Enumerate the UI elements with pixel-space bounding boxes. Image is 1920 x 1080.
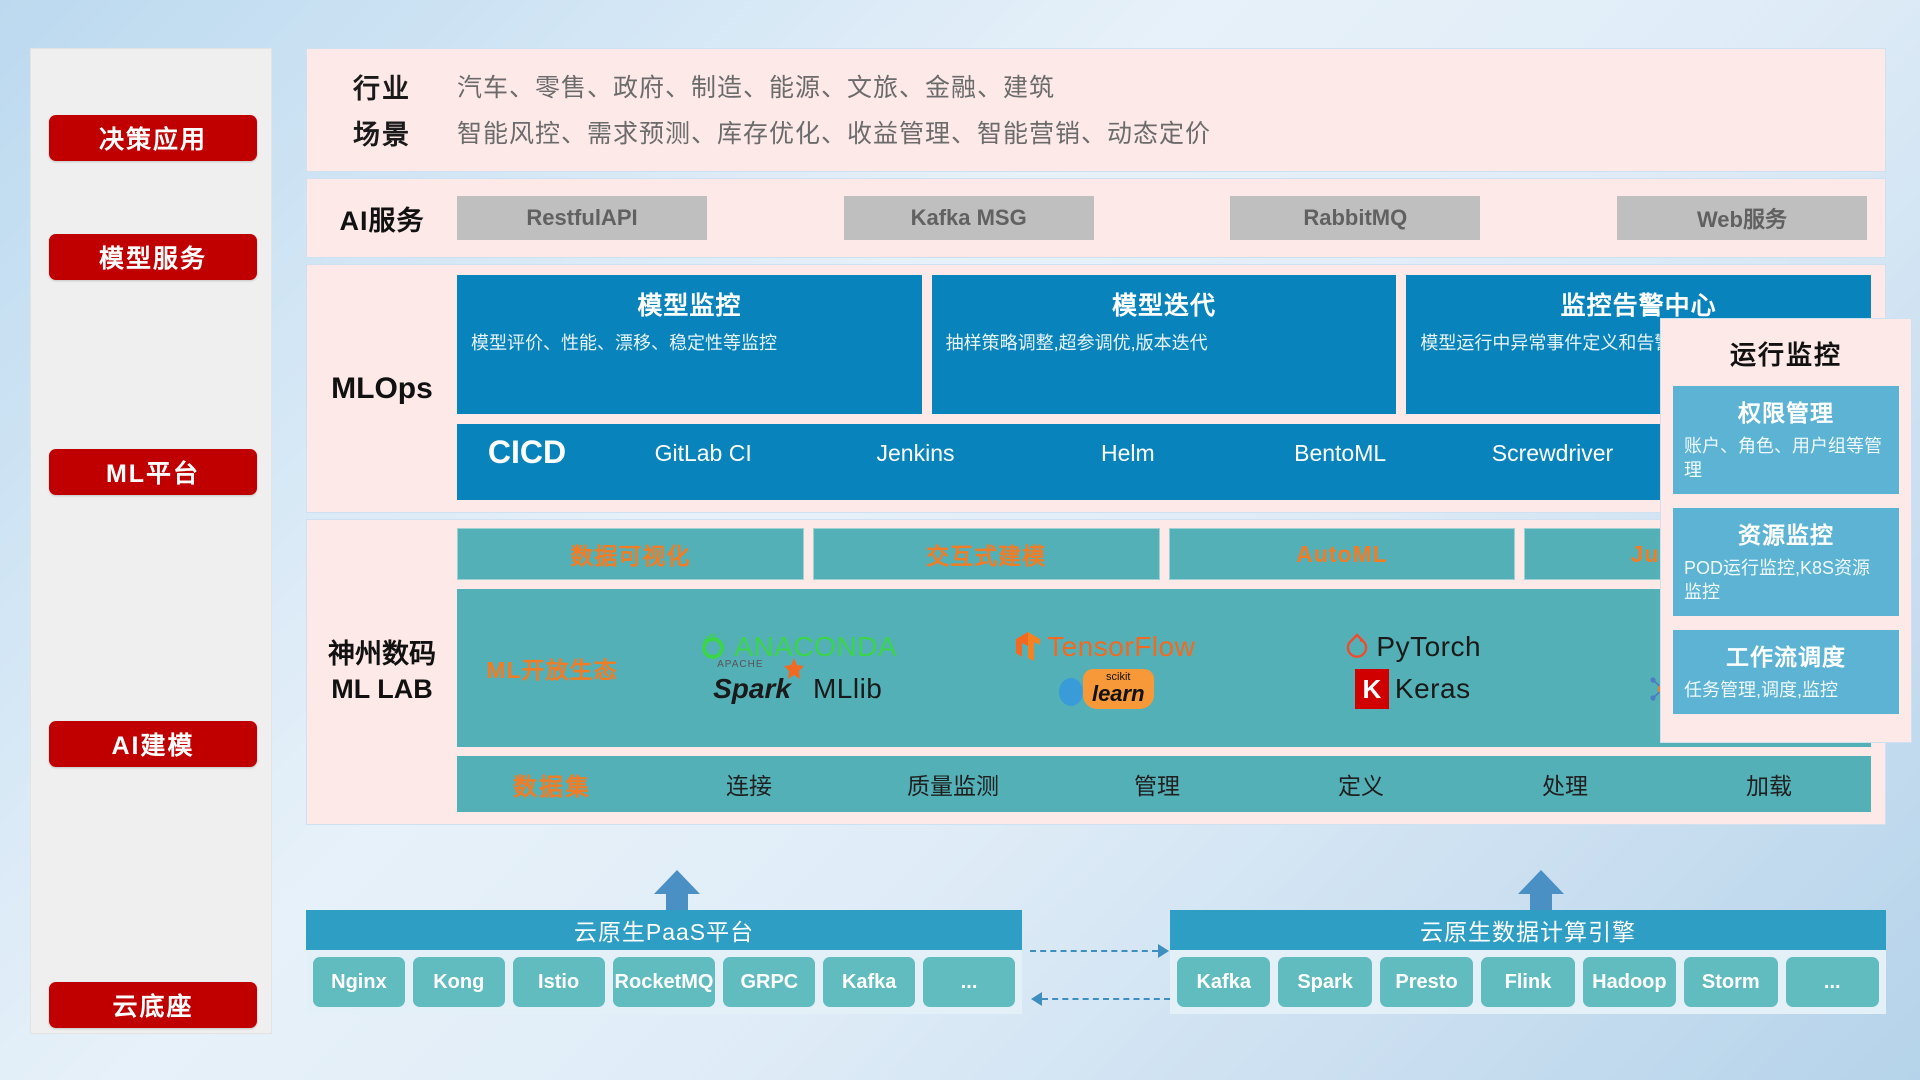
card-desc: 抽样策略调整,超参调优,版本迭代 xyxy=(946,331,1383,355)
mlops-card-row: 模型监控 模型评价、性能、漂移、稳定性等监控 模型迭代 抽样策略调整,超参调优,… xyxy=(457,275,1871,414)
ecosystem-label: ML开放生态 xyxy=(457,651,647,685)
ml-lab-key-line2: ML LAB xyxy=(331,674,433,704)
pytorch-icon xyxy=(1344,632,1370,662)
pytorch-logo: PyTorch xyxy=(1344,631,1481,663)
layer-label-rail: 决策应用 模型服务 ML平台 AI建模 云底座 xyxy=(30,48,272,1034)
service-rabbitmq[interactable]: RabbitMQ xyxy=(1230,196,1480,240)
dataset-item-quality-monitor[interactable]: 质量监测 xyxy=(851,767,1055,801)
rail-tag-cloud-base[interactable]: 云底座 xyxy=(49,982,257,1028)
anaconda-icon xyxy=(698,632,728,662)
cicd-tool-gitlab-ci[interactable]: GitLab CI xyxy=(597,436,809,466)
card-title: 工作流调度 xyxy=(1684,638,1888,672)
pill-hadoop[interactable]: Hadoop xyxy=(1583,957,1676,1007)
scikit-learn-badge: scikit learn xyxy=(1083,669,1154,709)
cloud-paas-title: 云原生PaaS平台 xyxy=(306,910,1022,950)
cloud-compute-group: 云原生数据计算引擎 Kafka Spark Presto Flink Hadoo… xyxy=(1170,910,1886,1014)
mlops-card-model-monitoring[interactable]: 模型监控 模型评价、性能、漂移、稳定性等监控 xyxy=(457,275,922,414)
pill-grpc[interactable]: GRPC xyxy=(723,957,815,1007)
keras-logo: K Keras xyxy=(1355,669,1471,709)
monitor-title: 运行监控 xyxy=(1673,335,1899,372)
dataset-item-connect[interactable]: 连接 xyxy=(647,767,851,801)
connector-dashed-top xyxy=(1030,950,1158,952)
connector-arrow-right xyxy=(1158,944,1169,958)
pill-kafka-left[interactable]: Kafka xyxy=(823,957,915,1007)
ml-lab-key: 神州数码 ML LAB xyxy=(307,520,457,824)
card-title: 模型迭代 xyxy=(946,286,1383,322)
cloud-base-section: 云原生PaaS平台 Nginx Kong Istio RocketMQ GRPC… xyxy=(306,888,1886,1048)
spark-star-icon xyxy=(783,658,805,680)
cicd-row: CICD GitLab CI Jenkins Helm BentoML Scre… xyxy=(457,424,1871,500)
cloud-paas-pills: Nginx Kong Istio RocketMQ GRPC Kafka ... xyxy=(306,950,1022,1014)
rail-tag-decision-app[interactable]: 决策应用 xyxy=(49,115,257,161)
scenario-key: 场景 xyxy=(307,113,457,152)
architecture-diagram: 决策应用 模型服务 ML平台 AI建模 云底座 行业 汽车、零售、政府、制造、能… xyxy=(0,0,1920,1080)
tensorflow-label: TensorFlow xyxy=(1047,631,1195,663)
cloud-paas-group: 云原生PaaS平台 Nginx Kong Istio RocketMQ GRPC… xyxy=(306,910,1022,1014)
scenario-value: 智能风控、需求预测、库存优化、收益管理、智能营销、动态定价 xyxy=(457,114,1211,150)
pytorch-label: PyTorch xyxy=(1376,631,1481,663)
ml-lab-chip-row: 数据可视化 交互式建模 AutoML JupyterLab xyxy=(457,528,1871,580)
card-desc: 任务管理,调度,监控 xyxy=(1684,679,1888,703)
dataset-head: 数据集 xyxy=(457,767,647,802)
row-industry: 行业 汽车、零售、政府、制造、能源、文旅、金融、建筑 xyxy=(307,63,1885,109)
band-industry-scenario: 行业 汽车、零售、政府、制造、能源、文旅、金融、建筑 场景 智能风控、需求预测、… xyxy=(306,48,1886,172)
spark-mllib-logo: APACHE Spark MLlib xyxy=(713,673,882,705)
mlops-card-model-iteration[interactable]: 模型迭代 抽样策略调整,超参调优,版本迭代 xyxy=(932,275,1397,414)
pill-istio[interactable]: Istio xyxy=(513,957,605,1007)
cloud-compute-title: 云原生数据计算引擎 xyxy=(1170,910,1886,950)
card-desc: POD运行监控,K8S资源监控 xyxy=(1684,557,1888,605)
pill-storm[interactable]: Storm xyxy=(1684,957,1777,1007)
cloud-compute-pills: Kafka Spark Presto Flink Hadoop Storm ..… xyxy=(1170,950,1886,1014)
dataset-item-process[interactable]: 处理 xyxy=(1463,767,1667,801)
cicd-tool-bentoml[interactable]: BentoML xyxy=(1234,436,1446,466)
mlops-key: MLOps xyxy=(307,265,457,512)
pill-kong[interactable]: Kong xyxy=(413,957,505,1007)
pill-nginx[interactable]: Nginx xyxy=(313,957,405,1007)
chip-automl[interactable]: AutoML xyxy=(1169,528,1516,580)
cicd-tool-helm[interactable]: Helm xyxy=(1022,436,1234,466)
card-desc: 模型评价、性能、漂移、稳定性等监控 xyxy=(471,331,908,355)
tensorflow-icon xyxy=(1015,631,1041,663)
rail-tag-ml-platform[interactable]: ML平台 xyxy=(49,449,257,495)
ai-service-list: RestfulAPI Kafka MSG RabbitMQ Web服务 xyxy=(457,196,1885,240)
rail-tag-model-service[interactable]: 模型服务 xyxy=(49,234,257,280)
dataset-item-manage[interactable]: 管理 xyxy=(1055,767,1259,801)
pill-kafka-right[interactable]: Kafka xyxy=(1177,957,1270,1007)
ml-lab-key-line1: 神州数码 xyxy=(328,639,436,669)
pill-presto[interactable]: Presto xyxy=(1380,957,1473,1007)
mllib-label: MLlib xyxy=(813,673,882,705)
cicd-title: CICD xyxy=(457,436,597,468)
card-title: 权限管理 xyxy=(1684,394,1888,428)
keras-label: Keras xyxy=(1395,673,1471,705)
band-ml-lab: 神州数码 ML LAB 数据可视化 交互式建模 AutoML JupyterLa… xyxy=(306,519,1886,825)
pill-more-right[interactable]: ... xyxy=(1786,957,1879,1007)
cicd-tool-screwdriver[interactable]: Screwdriver xyxy=(1446,436,1658,466)
spark-label: Spark xyxy=(713,673,791,704)
main-stack: 行业 汽车、零售、政府、制造、能源、文旅、金融、建筑 场景 智能风控、需求预测、… xyxy=(306,48,1886,831)
runtime-monitor-sidebar: 运行监控 权限管理 账户、角色、用户组等管理 资源监控 POD运行监控,K8S资… xyxy=(1660,318,1912,743)
learn-label: learn xyxy=(1092,683,1145,705)
card-desc: 账户、角色、用户组等管理 xyxy=(1684,435,1888,483)
ml-open-ecosystem: ML开放生态 ANACONDA xyxy=(457,589,1871,747)
band-ai-service: AI服务 RestfulAPI Kafka MSG RabbitMQ Web服务 xyxy=(306,178,1886,258)
connector-arrow-left xyxy=(1031,992,1042,1006)
monitor-card-workflow[interactable]: 工作流调度 任务管理,调度,监控 xyxy=(1673,630,1899,714)
spark-apache-label: APACHE xyxy=(717,659,763,670)
monitor-card-resource[interactable]: 资源监控 POD运行监控,K8S资源监控 xyxy=(1673,508,1899,616)
tensorflow-logo: TensorFlow xyxy=(1015,631,1195,663)
industry-value: 汽车、零售、政府、制造、能源、文旅、金融、建筑 xyxy=(457,68,1055,104)
row-scenario: 场景 智能风控、需求预测、库存优化、收益管理、智能营销、动态定价 xyxy=(307,109,1885,155)
service-web[interactable]: Web服务 xyxy=(1617,196,1867,240)
service-kafka-msg[interactable]: Kafka MSG xyxy=(844,196,1094,240)
dataset-item-define[interactable]: 定义 xyxy=(1259,767,1463,801)
pill-flink[interactable]: Flink xyxy=(1481,957,1574,1007)
scikit-learn-logo: scikit learn xyxy=(1057,669,1154,709)
rail-tag-ai-modeling[interactable]: AI建模 xyxy=(49,721,257,767)
chip-interactive-modeling[interactable]: 交互式建模 xyxy=(813,528,1160,580)
pill-spark[interactable]: Spark xyxy=(1278,957,1371,1007)
industry-key: 行业 xyxy=(307,67,457,106)
card-title: 监控告警中心 xyxy=(1420,286,1857,322)
card-title: 模型监控 xyxy=(471,286,908,322)
pill-rocketmq[interactable]: RocketMQ xyxy=(613,957,716,1007)
chip-data-visualization[interactable]: 数据可视化 xyxy=(457,528,804,580)
service-restfulapi[interactable]: RestfulAPI xyxy=(457,196,707,240)
dataset-row: 数据集 连接 质量监测 管理 定义 处理 加载 xyxy=(457,756,1871,812)
dataset-item-load[interactable]: 加载 xyxy=(1667,767,1871,801)
monitor-card-permission[interactable]: 权限管理 账户、角色、用户组等管理 xyxy=(1673,386,1899,494)
keras-k-icon: K xyxy=(1355,669,1389,709)
ai-service-key: AI服务 xyxy=(307,199,457,238)
pill-more-left[interactable]: ... xyxy=(923,957,1015,1007)
card-title: 资源监控 xyxy=(1684,516,1888,550)
cicd-tool-jenkins[interactable]: Jenkins xyxy=(809,436,1021,466)
band-mlops: MLOps 模型监控 模型评价、性能、漂移、稳定性等监控 模型迭代 抽样策略调整… xyxy=(306,264,1886,513)
connector-dashed-bottom xyxy=(1042,998,1170,1000)
